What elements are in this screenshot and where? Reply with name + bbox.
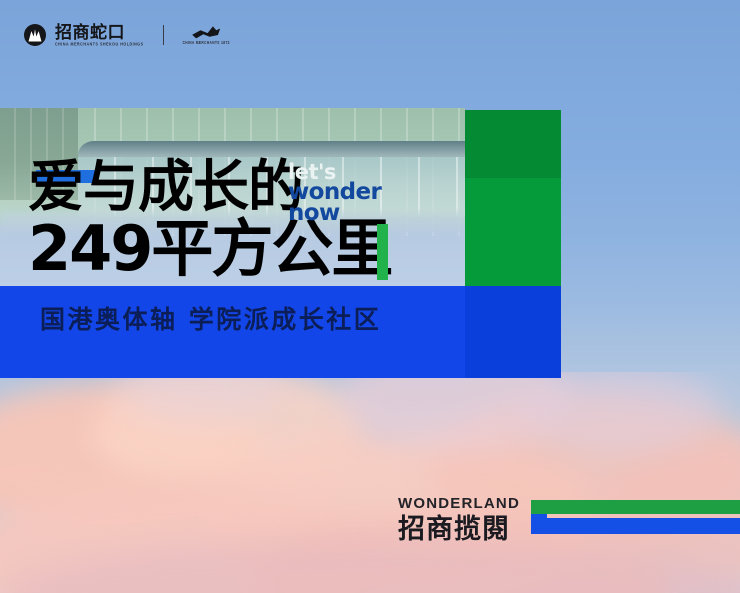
- developer-name-cn: 招商蛇口: [55, 24, 144, 41]
- slogan-line-3: now: [288, 203, 381, 224]
- developer-name-group: 招商蛇口 CHINA MERCHANTS SHEKOU HOLDINGS: [55, 24, 144, 47]
- green-accent-bar: [531, 500, 740, 514]
- poster-canvas: 招商蛇口 CHINA MERCHANTS SHEKOU HOLDINGS CHI…: [0, 0, 740, 593]
- mountain-emblem-icon: [24, 24, 46, 46]
- anniversary-caption: CHINA MERCHANTS 1872: [183, 42, 230, 46]
- developer-name-en: CHINA MERCHANTS SHEKOU HOLDINGS: [55, 43, 144, 47]
- anniversary-swoosh-icon: [192, 24, 220, 41]
- green-color-block-shade: [465, 110, 561, 178]
- project-logo-bars: [531, 494, 740, 536]
- top-logo-bar: 招商蛇口 CHINA MERCHANTS SHEKOU HOLDINGS CHI…: [0, 0, 740, 70]
- logo-divider: [163, 25, 164, 45]
- cloud-field: [0, 372, 740, 593]
- anniversary-logo: CHINA MERCHANTS 1872: [183, 24, 230, 45]
- blue-accent-bar: [531, 518, 740, 534]
- project-name-cn: 招商揽閱: [398, 516, 520, 543]
- headline-line-2: 249平方公里: [28, 218, 391, 280]
- accent-bar-cap: [531, 500, 547, 534]
- hero-subtitle: 国港奥体轴 学院派成长社区: [40, 300, 381, 336]
- project-name-group: WONDERLAND 招商揽閱: [398, 494, 520, 543]
- project-name-en: WONDERLAND: [398, 496, 520, 511]
- english-slogan: let's wonder now: [288, 163, 381, 225]
- blue-band-right-segment: [465, 286, 561, 378]
- headline-green-stroke-accent: [377, 224, 388, 280]
- project-logo[interactable]: WONDERLAND 招商揽閱: [398, 494, 740, 543]
- developer-logo[interactable]: 招商蛇口 CHINA MERCHANTS SHEKOU HOLDINGS CHI…: [24, 24, 230, 47]
